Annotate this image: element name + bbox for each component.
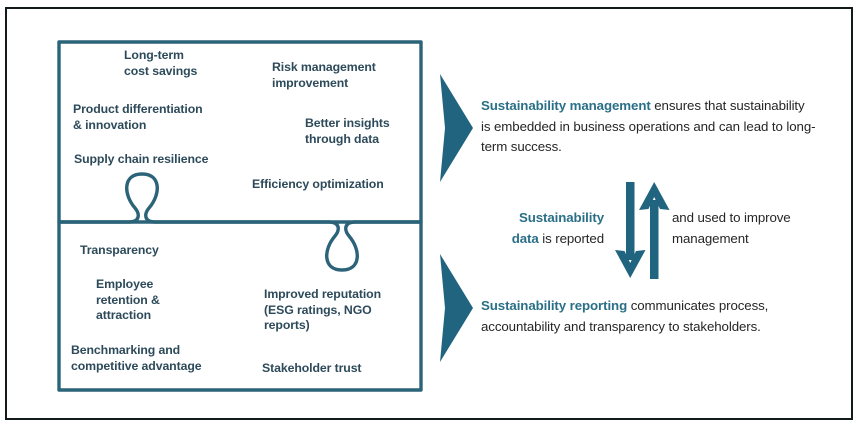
puzzle-label-transparency: Transparency [80,243,200,259]
label-line: Better insights [305,116,425,132]
middle-text-right: and used to improve management [672,208,832,249]
label-line: attraction [96,308,211,324]
label-line: Risk management [272,60,412,76]
middle-right-line: and used to improve [672,208,832,229]
puzzle-label-product-differentiation-innovation: Product differentiation & innovation [73,102,248,133]
label-line: reports) [264,318,409,334]
puzzle-label-improved-reputation: Improved reputation (ESG ratings, NGO re… [264,287,409,334]
label-line: Benchmarking and [71,343,236,359]
middle-arrows-group [606,178,678,283]
label-line: (ESG ratings, NGO [264,303,409,319]
arrow-up-icon [639,182,670,279]
puzzle-label-stakeholder-trust: Stakeholder trust [262,361,402,377]
statement-reporting-bold: Sustainability reporting [481,298,627,313]
label-line: Improved reputation [264,287,409,303]
puzzle-label-employee-retention-attraction: Employee retention & attraction [96,277,211,324]
label-line: Efficiency optimization [252,177,412,193]
puzzle-label-risk-management-improvement: Risk management improvement [272,60,412,91]
arrow-right-reporting-icon [437,252,475,364]
middle-left-rest: is reported [539,231,604,246]
puzzle-label-supply-chain-resilience: Supply chain resilience [74,152,244,168]
middle-right-line: management [672,229,832,250]
label-line: Product differentiation [73,102,248,118]
arrow-down-icon [615,182,646,278]
label-line: improvement [272,76,412,92]
label-line: retention & [96,293,211,309]
label-line: Employee [96,277,211,293]
label-line: Supply chain resilience [74,152,244,168]
middle-text-left: Sustainability data is reported [492,208,604,249]
label-line: Transparency [80,243,200,259]
puzzle-label-efficiency-optimization: Efficiency optimization [252,177,412,193]
puzzle-label-better-insights-through-data: Better insights through data [305,116,425,147]
label-line: Stakeholder trust [262,361,402,377]
label-line: & innovation [73,118,248,134]
label-line: Long-term [124,48,254,64]
puzzle-label-benchmarking-competitive-advantage: Benchmarking and competitive advantage [71,343,236,374]
diagram-canvas: Long-term cost savings Risk management i… [0,0,863,431]
arrow-right-management-icon [437,72,475,184]
label-line: cost savings [124,64,254,80]
statement-management-bold: Sustainability management [481,98,651,113]
puzzle-label-long-term-cost-savings: Long-term cost savings [124,48,254,79]
statement-reporting: Sustainability reporting communicates pr… [481,296,826,337]
label-line: through data [305,132,425,148]
label-line: competitive advantage [71,359,236,375]
statement-management: Sustainability management ensures that s… [481,96,816,158]
